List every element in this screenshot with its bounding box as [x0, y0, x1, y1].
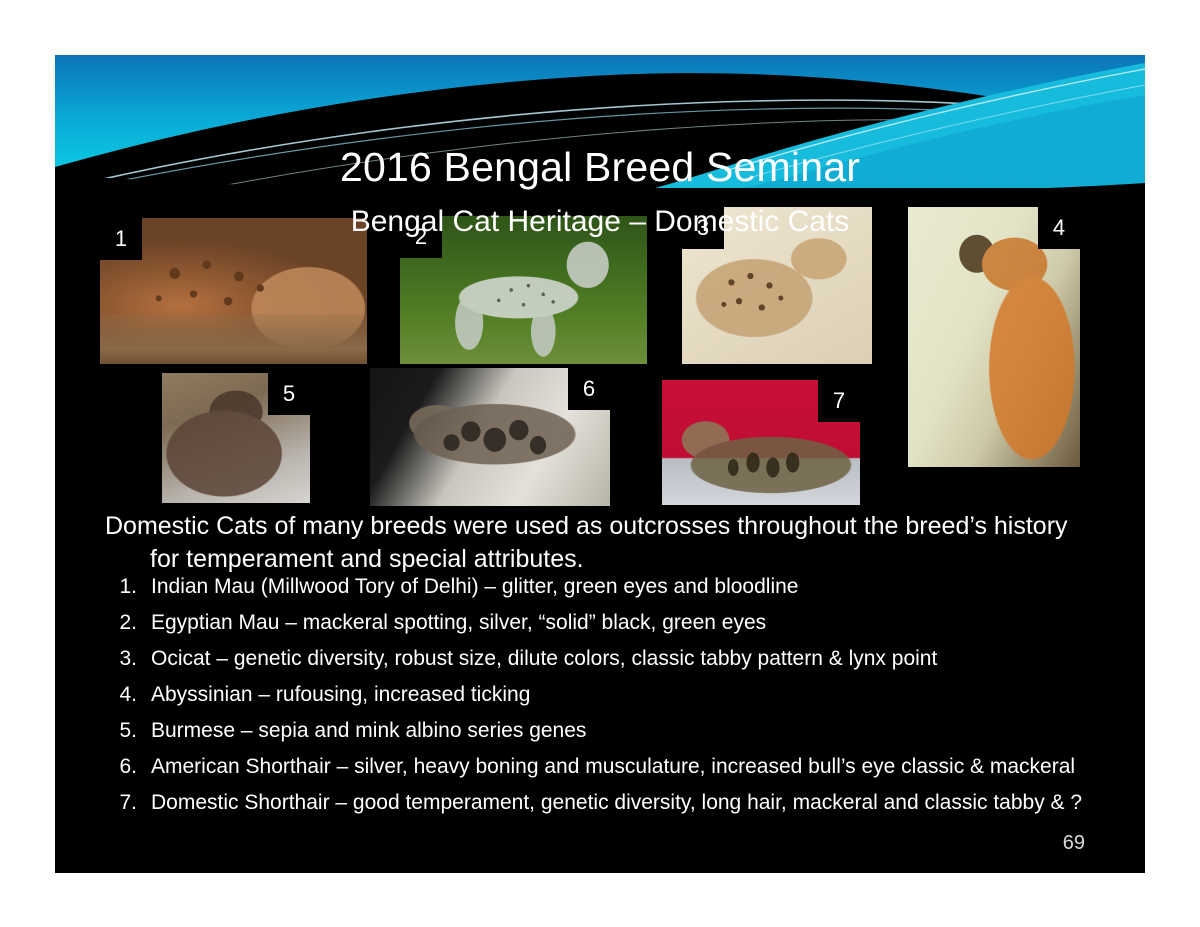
lead-paragraph: Domestic Cats of many breeds were used a…: [105, 510, 1125, 576]
list-item-number: 4.: [95, 683, 151, 707]
list-item-number: 7.: [95, 791, 151, 815]
list-item-text: Indian Mau (Millwood Tory of Delhi) – gl…: [151, 575, 798, 599]
photo-6-number-badge: 6: [568, 368, 610, 410]
photo-6-american-shorthair[interactable]: 6: [370, 368, 610, 506]
list-item: 2. Egyptian Mau – mackeral spotting, sil…: [95, 611, 1135, 647]
list-item-text: American Shorthair – silver, heavy bonin…: [151, 755, 1075, 779]
list-item-number: 5.: [95, 719, 151, 743]
photo-4-abyssinian[interactable]: 4: [908, 207, 1080, 467]
list-item: 3. Ocicat – genetic diversity, robust si…: [95, 647, 1135, 683]
slide-page-number: 69: [1063, 832, 1085, 855]
list-item-text: Egyptian Mau – mackeral spotting, silver…: [151, 611, 766, 635]
list-item-text: Burmese – sepia and mink albino series g…: [151, 719, 586, 743]
page-subtitle: Bengal Cat Heritage – Domestic Cats: [55, 207, 1145, 237]
photo-2-egyptian-mau[interactable]: 2: [400, 216, 647, 364]
lead-line-2: for temperament and special attributes.: [105, 543, 1125, 576]
lead-line-1: Domestic Cats of many breeds were used a…: [105, 512, 1068, 540]
photo-1-indian-mau[interactable]: 1: [100, 218, 367, 364]
photo-7-number-badge: 7: [818, 380, 860, 422]
photo-5-number-badge: 5: [268, 373, 310, 415]
breeds-list: 1. Indian Mau (Millwood Tory of Delhi) –…: [95, 575, 1135, 827]
page-title: 2016 Bengal Breed Seminar: [55, 147, 1145, 188]
list-item-text: Ocicat – genetic diversity, robust size,…: [151, 647, 937, 671]
list-item-number: 2.: [95, 611, 151, 635]
list-item: 7. Domestic Shorthair – good temperament…: [95, 791, 1135, 827]
photo-7-domestic-shorthair[interactable]: 7: [662, 380, 860, 505]
presentation-slide: 2016 Bengal Breed Seminar Bengal Cat Her…: [55, 55, 1145, 873]
list-item: 1. Indian Mau (Millwood Tory of Delhi) –…: [95, 575, 1135, 611]
list-item-number: 3.: [95, 647, 151, 671]
list-item-text: Abyssinian – rufousing, increased tickin…: [151, 683, 530, 707]
list-item: 6. American Shorthair – silver, heavy bo…: [95, 755, 1135, 791]
photo-5-burmese[interactable]: 5: [162, 373, 310, 503]
list-item-number: 1.: [95, 575, 151, 599]
list-item: 4. Abyssinian – rufousing, increased tic…: [95, 683, 1135, 719]
list-item-number: 6.: [95, 755, 151, 779]
list-item: 5. Burmese – sepia and mink albino serie…: [95, 719, 1135, 755]
list-item-text: Domestic Shorthair – good temperament, g…: [151, 791, 1082, 815]
